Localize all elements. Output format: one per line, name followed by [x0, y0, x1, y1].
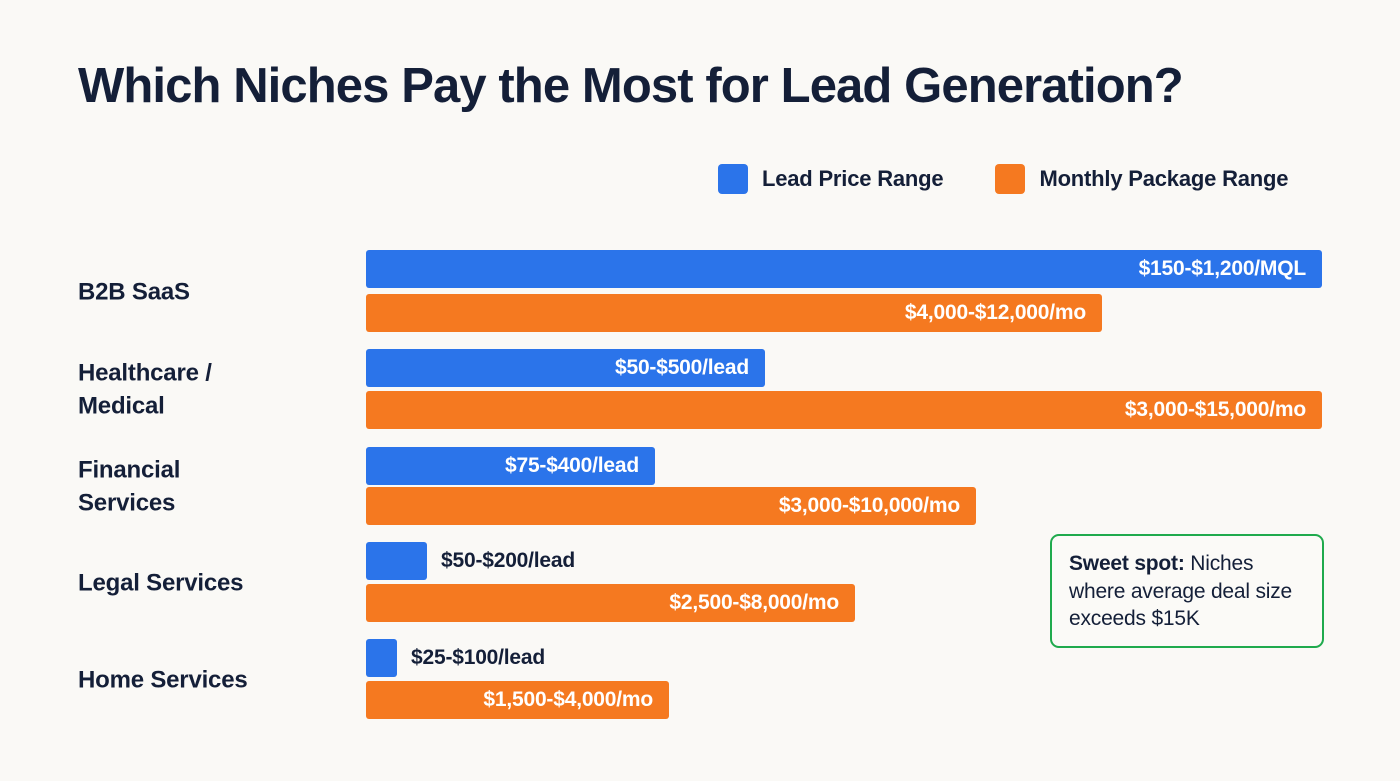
- bar-value-monthly-package-b2b-saas: $4,000-$12,000/mo: [905, 301, 1102, 325]
- bar-monthly-package-healthcare-medical: $3,000-$15,000/mo: [366, 391, 1322, 429]
- category-label-line-2: Medical: [78, 392, 165, 419]
- bar-value-monthly-package-financial-services: $3,000-$10,000/mo: [779, 494, 976, 518]
- bar-lead-price-b2b-saas: $150-$1,200/MQL: [366, 250, 1322, 288]
- category-label-home-services: Home Services: [78, 665, 348, 698]
- bar-lead-price-home-services: $25-$100/lead: [366, 639, 397, 677]
- bar-value-lead-price-home-services: $25-$100/lead: [397, 646, 545, 670]
- category-label-financial-services: Financial Services: [78, 454, 348, 519]
- category-label-line-1: Healthcare /: [78, 359, 212, 386]
- bar-value-lead-price-healthcare-medical: $50-$500/lead: [615, 356, 765, 380]
- bar-lead-price-healthcare-medical: $50-$500/lead: [366, 349, 765, 387]
- bar-monthly-package-financial-services: $3,000-$10,000/mo: [366, 487, 976, 525]
- bar-value-monthly-package-legal-services: $2,500-$8,000/mo: [669, 591, 855, 615]
- bar-chart-plot-area: B2B SaaS $150-$1,200/MQL $4,000-$12,000/…: [0, 0, 1400, 781]
- category-label-b2b-saas: B2B SaaS: [78, 277, 348, 310]
- category-label-healthcare-medical: Healthcare / Medical: [78, 357, 348, 422]
- bar-monthly-package-b2b-saas: $4,000-$12,000/mo: [366, 294, 1102, 332]
- bar-monthly-package-home-services: $1,500-$4,000/mo: [366, 681, 669, 719]
- bar-value-lead-price-financial-services: $75-$400/lead: [505, 454, 655, 478]
- bar-value-lead-price-b2b-saas: $150-$1,200/MQL: [1139, 257, 1322, 281]
- bar-value-monthly-package-home-services: $1,500-$4,000/mo: [483, 688, 669, 712]
- bar-monthly-package-legal-services: $2,500-$8,000/mo: [366, 584, 855, 622]
- sweet-spot-callout-lead: Sweet spot:: [1069, 552, 1185, 575]
- sweet-spot-callout: Sweet spot: Niches where average deal si…: [1050, 534, 1324, 648]
- bar-value-monthly-package-healthcare-medical: $3,000-$15,000/mo: [1125, 398, 1322, 422]
- bar-lead-price-financial-services: $75-$400/lead: [366, 447, 655, 485]
- bar-value-lead-price-legal-services: $50-$200/lead: [427, 549, 575, 573]
- category-label-line-1: Financial: [78, 456, 180, 483]
- sweet-spot-callout-text: Sweet spot: Niches where average deal si…: [1069, 550, 1305, 633]
- category-label-line-2: Services: [78, 489, 175, 516]
- category-label-legal-services: Legal Services: [78, 568, 348, 601]
- lead-generation-infographic: Which Niches Pay the Most for Lead Gener…: [0, 0, 1400, 781]
- bar-lead-price-legal-services: $50-$200/lead: [366, 542, 427, 580]
